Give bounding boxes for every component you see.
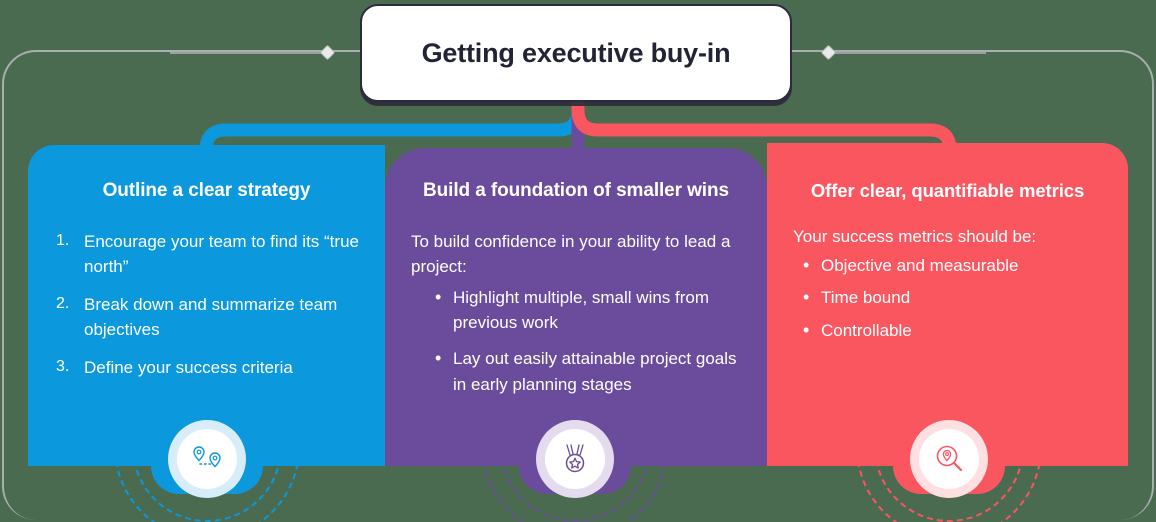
- badge-strategy: [168, 420, 246, 498]
- list-item: Lay out easily attainable project goals …: [435, 346, 741, 396]
- card-body-strategy: Encourage your team to find its “true no…: [54, 229, 359, 381]
- list-item: Encourage your team to find its “true no…: [54, 229, 359, 279]
- card-title-smaller-wins: Build a foundation of smaller wins: [411, 179, 741, 203]
- magnifier-pin-icon: [933, 443, 965, 475]
- list-item: Highlight multiple, small wins from prev…: [435, 285, 741, 335]
- badge-inner: [919, 429, 979, 489]
- medal-star-icon: [559, 443, 591, 475]
- list-item: Objective and measurable: [803, 253, 1102, 278]
- list-item: Define your success criteria: [54, 355, 359, 380]
- card-intro-smaller-wins: To build confidence in your ability to l…: [411, 229, 741, 279]
- card-body-smaller-wins: To build confidence in your ability to l…: [411, 229, 741, 397]
- list-item: Time bound: [803, 285, 1102, 310]
- card-smaller-wins: Build a foundation of smaller wins To bu…: [385, 148, 767, 466]
- card-title-metrics: Offer clear, quantifiable metrics: [793, 179, 1102, 202]
- card-strategy: Outline a clear strategy Encourage your …: [28, 145, 385, 466]
- page-title: Getting executive buy-in: [422, 38, 731, 69]
- list-item: Controllable: [803, 318, 1102, 343]
- title-card: Getting executive buy-in: [360, 4, 792, 102]
- badge-smaller-wins: [536, 420, 614, 498]
- badge-inner: [545, 429, 605, 489]
- map-route-pins-icon: [190, 444, 224, 474]
- infographic-stage: Getting executive buy-in Outline a clear…: [0, 0, 1156, 522]
- metrics-list: Objective and measurable Time bound Cont…: [793, 253, 1102, 342]
- card-metrics: Offer clear, quantifiable metrics Your s…: [767, 143, 1128, 466]
- smaller-wins-list: Highlight multiple, small wins from prev…: [411, 285, 741, 397]
- card-title-strategy: Outline a clear strategy: [54, 179, 359, 203]
- card-intro-metrics: Your success metrics should be:: [793, 224, 1102, 249]
- card-body-metrics: Your success metrics should be: Objectiv…: [793, 224, 1102, 343]
- badge-inner: [177, 429, 237, 489]
- strategy-list: Encourage your team to find its “true no…: [54, 229, 359, 381]
- list-item: Break down and summarize team objectives: [54, 292, 359, 342]
- badge-metrics: [910, 420, 988, 498]
